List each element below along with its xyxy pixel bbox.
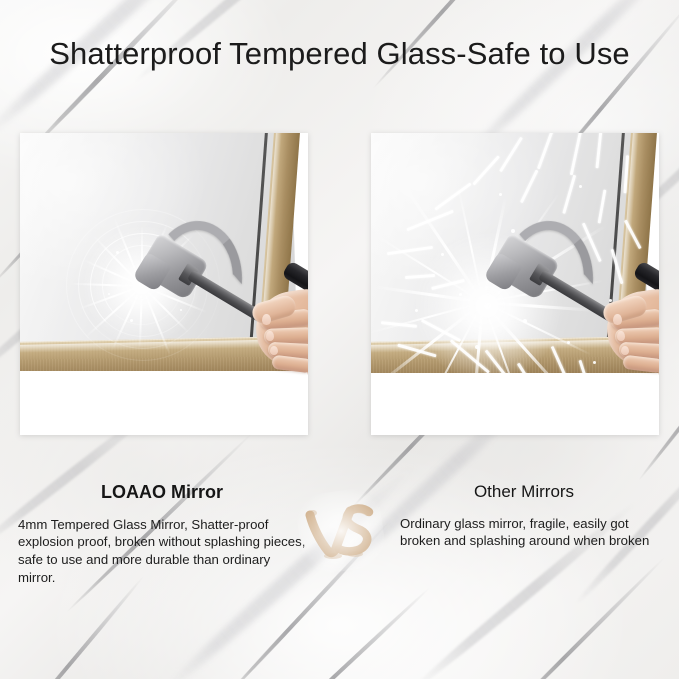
caption-body-other: Ordinary glass mirror, fragile, easily g…	[378, 515, 670, 550]
vs-paper-wash	[294, 486, 388, 577]
caption-other: Other Mirrors Ordinary glass mirror, fra…	[378, 483, 670, 550]
hand-left	[250, 281, 308, 391]
product-infographic: Shatterproof Tempered Glass-Safe to Use	[0, 0, 679, 679]
vs-divider-badge	[303, 497, 377, 563]
photo-left-scene	[20, 133, 308, 435]
photo-right-scene	[371, 133, 659, 435]
product-photo-loaao	[20, 133, 308, 435]
caption-heading-loaao: LOAAO Mirror	[14, 483, 310, 503]
caption-body-loaao: 4mm Tempered Glass Mirror, Shatter-proof…	[14, 516, 310, 586]
product-photo-other	[371, 133, 659, 435]
caption-loaao: LOAAO Mirror 4mm Tempered Glass Mirror, …	[14, 483, 310, 586]
hand-right	[601, 281, 659, 391]
page-title: Shatterproof Tempered Glass-Safe to Use	[0, 36, 679, 72]
caption-heading-other: Other Mirrors	[378, 483, 670, 502]
